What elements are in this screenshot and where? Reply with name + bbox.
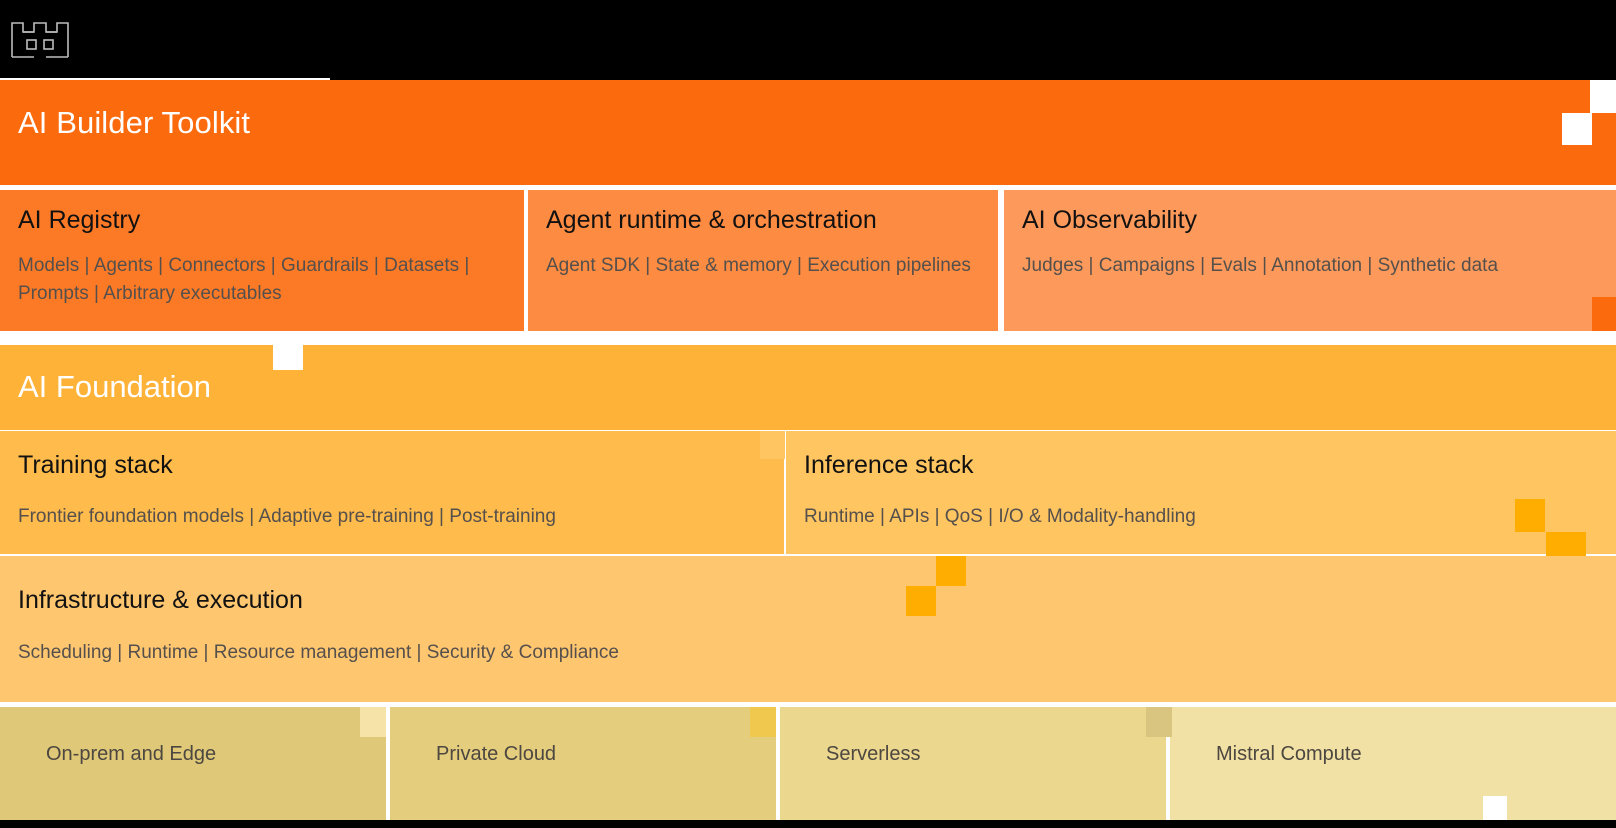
decor-square-white-bottom-right — [1483, 796, 1507, 820]
decor-square-notch-inference — [760, 431, 785, 459]
card-ai-registry[interactable]: AI Registry Models | Agents | Connectors… — [0, 190, 524, 331]
card-training-stack[interactable]: Training stack Frontier foundation model… — [0, 431, 784, 554]
ai-builder-toolkit-title: AI Builder Toolkit — [18, 105, 250, 141]
decor-square-notch-deployment-0 — [360, 707, 386, 737]
decor-square-white-top-right-b — [1562, 113, 1592, 145]
card-infrastructure-execution-subtitle: Scheduling | Runtime | Resource manageme… — [18, 642, 619, 664]
decor-square-white-top-right-a — [1590, 80, 1616, 113]
card-ai-observability-title: AI Observability — [1022, 206, 1197, 235]
card-inference-stack[interactable]: Inference stack Runtime | APIs | QoS | I… — [786, 431, 1616, 554]
slide-root: AI Builder Toolkit AI Registry Models | … — [0, 0, 1616, 828]
deployment-option-private-cloud[interactable]: Private Cloud — [390, 707, 776, 820]
deployment-option-serverless-label: Serverless — [826, 743, 920, 766]
card-infrastructure-execution[interactable]: Infrastructure & execution Scheduling | … — [0, 556, 1616, 702]
card-ai-observability[interactable]: AI Observability Judges | Campaigns | Ev… — [1004, 190, 1616, 331]
ai-foundation-title: AI Foundation — [18, 369, 211, 405]
card-inference-stack-title: Inference stack — [804, 451, 974, 480]
card-agent-runtime-orchestration[interactable]: Agent runtime & orchestration Agent SDK … — [528, 190, 998, 331]
card-agent-runtime-orchestration-title: Agent runtime & orchestration — [546, 206, 877, 235]
card-ai-registry-title: AI Registry — [18, 206, 140, 235]
card-agent-runtime-orchestration-subtitle: Agent SDK | State & memory | Execution p… — [546, 252, 986, 280]
mistral-logo-icon — [10, 13, 70, 59]
deployment-option-mistral-compute-label: Mistral Compute — [1216, 743, 1362, 766]
decor-square-amber-right-upper — [1515, 499, 1545, 532]
deployment-option-on-prem-and-edge[interactable]: On-prem and Edge — [0, 707, 386, 820]
bottom-footer-bar — [0, 820, 1616, 828]
layer-ai-foundation: AI Foundation — [0, 345, 1616, 430]
top-header-bar — [0, 0, 1616, 80]
layer-ai-builder-toolkit: AI Builder Toolkit — [0, 80, 1616, 185]
deployment-option-private-cloud-label: Private Cloud — [436, 743, 556, 766]
decor-square-white-foundation — [273, 345, 303, 370]
card-ai-registry-subtitle: Models | Agents | Connectors | Guardrail… — [18, 252, 506, 308]
card-training-stack-title: Training stack — [18, 451, 173, 480]
card-ai-observability-subtitle: Judges | Campaigns | Evals | Annotation … — [1022, 252, 1598, 280]
deployment-option-serverless[interactable]: Serverless — [780, 707, 1166, 820]
card-training-stack-subtitle: Frontier foundation models | Adaptive pr… — [18, 506, 556, 528]
deployment-option-on-prem-and-edge-label: On-prem and Edge — [46, 743, 216, 766]
decor-square-orange-right — [1592, 297, 1616, 331]
decor-square-amber-stair-upper — [936, 556, 966, 586]
deployment-option-mistral-compute[interactable]: Mistral Compute — [1170, 707, 1616, 820]
deployment-options-row: On-prem and Edge Private Cloud Serverles… — [0, 707, 1616, 820]
toolkit-card-row: AI Registry Models | Agents | Connectors… — [0, 190, 1616, 331]
card-inference-stack-subtitle: Runtime | APIs | QoS | I/O & Modality-ha… — [804, 506, 1196, 528]
card-infrastructure-execution-title: Infrastructure & execution — [18, 586, 303, 615]
decor-square-amber-stair-lower — [906, 586, 936, 616]
decor-square-notch-deployment-1 — [750, 707, 776, 737]
decor-square-notch-deployment-2 — [1146, 707, 1172, 737]
foundation-stack-row: Training stack Frontier foundation model… — [0, 431, 1616, 554]
